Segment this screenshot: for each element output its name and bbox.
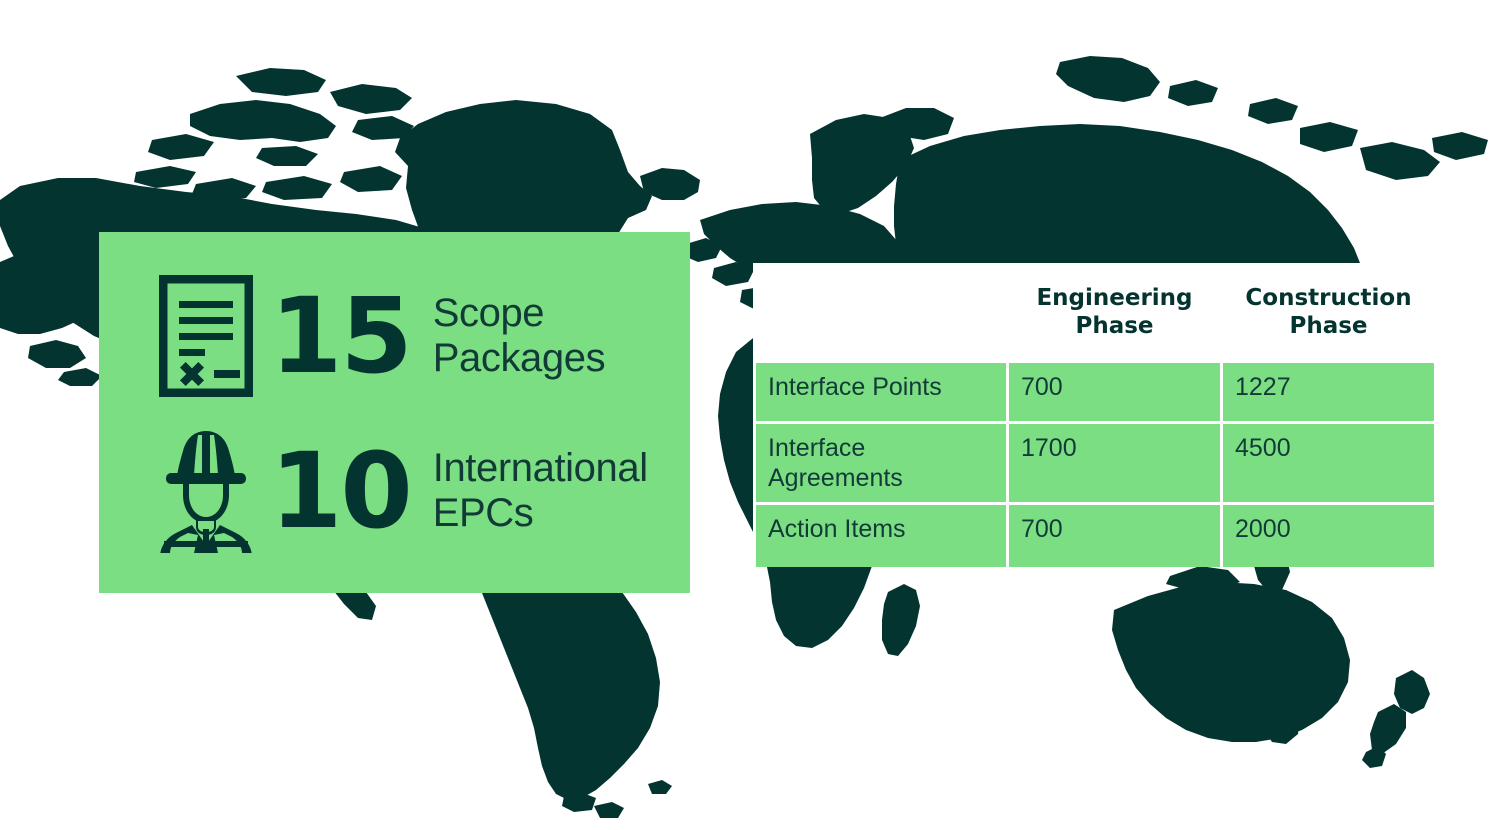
phase-metrics-table: Engineering Phase Construction Phase Int…	[753, 263, 1425, 546]
stat-number-15: 15	[270, 284, 411, 388]
table: Engineering Phase Construction Phase Int…	[753, 263, 1437, 570]
table-header: Engineering Phase Construction Phase	[756, 266, 1434, 360]
column-header-line1: Engineering	[1036, 285, 1192, 311]
cell-construction-interface-points: 1227	[1223, 363, 1434, 421]
stat-label-line2: EPCs	[433, 491, 534, 535]
stat-label-line2: Packages	[433, 336, 605, 380]
stat-label-international-epcs: International EPCs	[433, 446, 648, 536]
cell-engineering-interface-points: 700	[1009, 363, 1220, 421]
stat-number-10: 10	[270, 439, 411, 543]
construction-worker-icon	[154, 426, 258, 556]
row-label-interface-points: Interface Points	[756, 363, 1006, 421]
row-label-interface-agreements: Interface Agreements	[756, 424, 1006, 502]
stat-row-international-epcs: 10 International EPCs	[99, 413, 690, 568]
column-header-line2: Phase	[1075, 313, 1153, 339]
cell-engineering-action-items: 700	[1009, 505, 1220, 567]
stat-label-line1: Scope	[433, 291, 544, 335]
stat-card: 15 Scope Packages	[99, 232, 690, 593]
document-checklist-icon	[154, 271, 258, 401]
slide-canvas: 15 Scope Packages	[0, 0, 1501, 830]
table-row: Interface Agreements 1700 4500	[756, 424, 1434, 502]
stat-label-line1: International	[433, 446, 648, 490]
column-header-line1: Construction	[1245, 285, 1411, 311]
stat-label-scope-packages: Scope Packages	[433, 291, 605, 381]
cell-construction-interface-agreements: 4500	[1223, 424, 1434, 502]
cell-construction-action-items: 2000	[1223, 505, 1434, 567]
column-header-construction-phase: Construction Phase	[1223, 266, 1434, 360]
row-label-line1: Interface	[768, 434, 865, 462]
stat-row-scope-packages: 15 Scope Packages	[99, 258, 690, 413]
row-label-line2: Agreements	[768, 464, 903, 492]
table-body: Interface Points 700 1227 Interface Agre…	[756, 363, 1434, 567]
table-header-row: Engineering Phase Construction Phase	[756, 266, 1434, 360]
row-label-action-items: Action Items	[756, 505, 1006, 567]
column-header-line2: Phase	[1289, 313, 1367, 339]
table-corner-cell	[756, 266, 1006, 360]
column-header-engineering-phase: Engineering Phase	[1009, 266, 1220, 360]
cell-engineering-interface-agreements: 1700	[1009, 424, 1220, 502]
table-row: Action Items 700 2000	[756, 505, 1434, 567]
table-row: Interface Points 700 1227	[756, 363, 1434, 421]
